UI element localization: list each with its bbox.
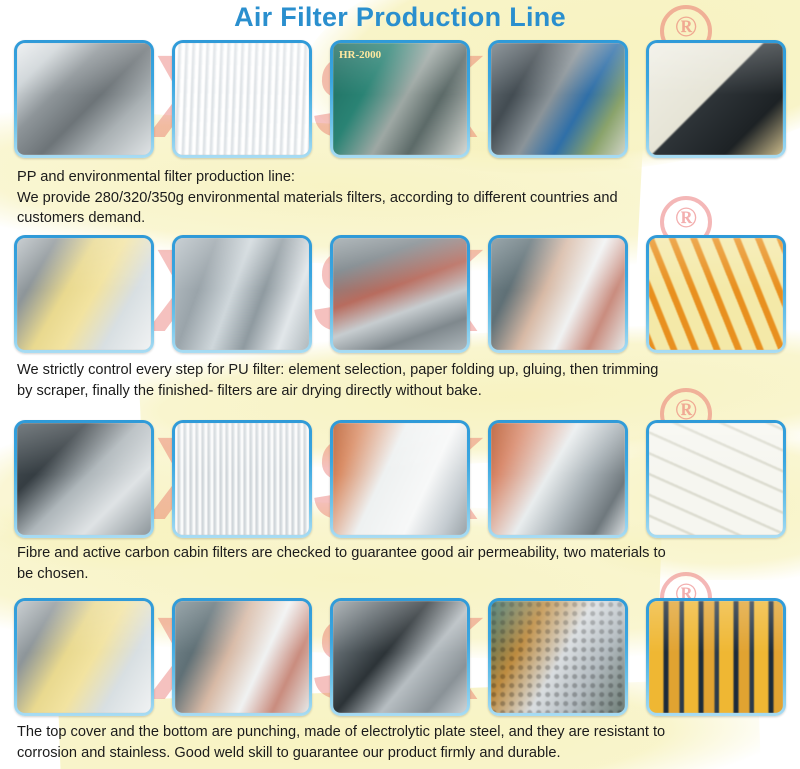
photo-yellow-media-rolling[interactable]: [14, 235, 154, 353]
photo-white-pleated-media[interactable]: [172, 40, 312, 158]
photo-perforated-steel-mesh[interactable]: [488, 598, 628, 716]
photo-yellow-media-rolling-2[interactable]: [14, 598, 154, 716]
page-title: Air Filter Production Line: [0, 2, 800, 33]
caption-row-2: We strictly control every step for PU fi…: [17, 360, 787, 401]
machine-label: HR-2000: [339, 49, 381, 61]
caption-line: be chosen.: [17, 564, 787, 585]
caption-line: by scraper, finally the finished- filter…: [17, 381, 787, 402]
photo-control-panel-machine[interactable]: [488, 40, 628, 158]
photo-worker-wrapping-element[interactable]: [172, 598, 312, 716]
photo-stacked-white-filter-blocks[interactable]: [646, 420, 786, 538]
photo-orange-frame-filters[interactable]: [646, 235, 786, 353]
photo-drying-racks[interactable]: [172, 235, 312, 353]
caption-line: We strictly control every step for PU fi…: [17, 360, 787, 381]
photo-worker-gluing-frame[interactable]: [488, 235, 628, 353]
photo-hr2000-injection-machine[interactable]: HR-2000: [330, 40, 470, 158]
caption-line: PP and environmental filter production l…: [17, 167, 787, 188]
caption-line: customers demand.: [17, 208, 787, 229]
caption-line: Fibre and active carbon cabin filters ar…: [17, 543, 787, 564]
photo-cutting-machine[interactable]: [14, 40, 154, 158]
caption-line: corrosion and stainless. Good weld skill…: [17, 743, 787, 764]
caption-line: We provide 280/320/350g environmental ma…: [17, 188, 787, 209]
photo-hands-trimming-filter[interactable]: [488, 420, 628, 538]
photo-press-machine-white-pad[interactable]: [14, 420, 154, 538]
caption-row-1: PP and environmental filter production l…: [17, 167, 787, 229]
photo-hands-checking-filter[interactable]: [330, 420, 470, 538]
photo-finished-panel-filters[interactable]: [646, 40, 786, 158]
caption-row-3: Fibre and active carbon cabin filters ar…: [17, 543, 787, 584]
photo-assembly-line-workshop[interactable]: [330, 235, 470, 353]
photo-punching-tooling[interactable]: [330, 598, 470, 716]
brochure-page: Air Filter Production Line ® ® ® ® XTSKY…: [0, 0, 800, 769]
photo-grey-pleated-cabin-filter[interactable]: [172, 420, 312, 538]
caption-row-4: The top cover and the bottom are punchin…: [17, 722, 787, 763]
caption-line: The top cover and the bottom are punchin…: [17, 722, 787, 743]
photo-air-filter-cartridges[interactable]: [646, 598, 786, 716]
